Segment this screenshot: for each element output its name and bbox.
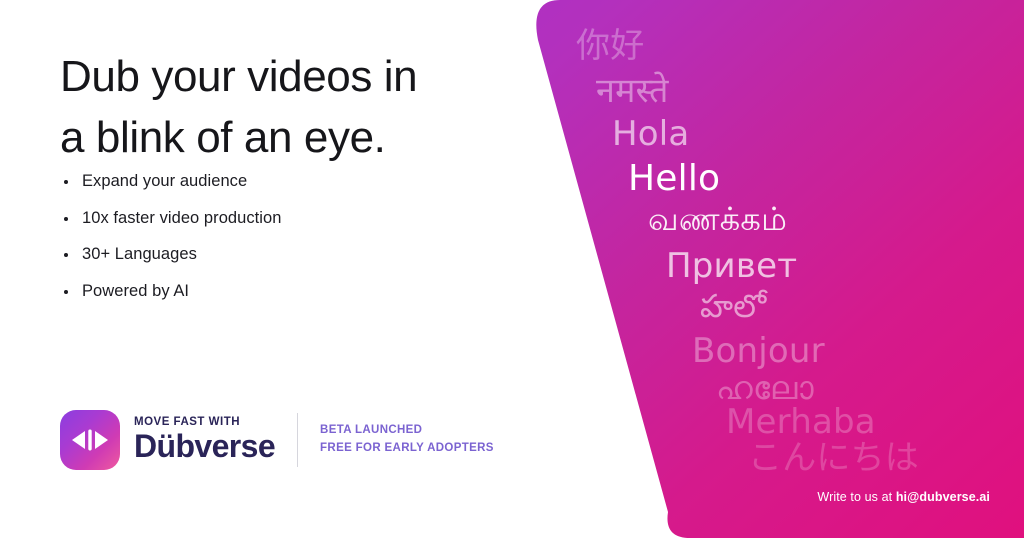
page-title: Dub your videos in a blink of an eye. bbox=[60, 47, 490, 168]
contact-email[interactable]: hi@dubverse.ai bbox=[896, 490, 990, 504]
contact-prefix: Write to us at bbox=[817, 490, 895, 504]
feature-list: Expand your audience 10x faster video pr… bbox=[62, 173, 281, 319]
list-item: 30+ Languages bbox=[62, 246, 281, 263]
brand-kicker: MOVE FAST WITH bbox=[134, 416, 275, 428]
beta-badge: BETA LAUNCHED FREE FOR EARLY ADOPTERS bbox=[320, 422, 494, 458]
list-item: 10x faster video production bbox=[62, 210, 281, 227]
brand-row: MOVE FAST WITH Dübverse BETA LAUNCHED FR… bbox=[60, 410, 494, 470]
brand-name: Dübverse bbox=[134, 430, 275, 464]
beta-line-2: FREE FOR EARLY ADOPTERS bbox=[320, 440, 494, 458]
promo-banner: 你好नमस्तेHolaHelloவணக்கம்ПриветహలోBonjour… bbox=[0, 0, 1024, 538]
beta-line-1: BETA LAUNCHED bbox=[320, 422, 494, 440]
headline-line-1: Dub your videos in bbox=[60, 47, 490, 108]
brand-divider bbox=[297, 413, 298, 467]
dub-play-logo-icon bbox=[60, 410, 120, 470]
contact-line: Write to us at hi@dubverse.ai bbox=[817, 490, 990, 504]
headline-line-2: a blink of an eye. bbox=[60, 108, 490, 169]
list-item: Powered by AI bbox=[62, 283, 281, 300]
list-item: Expand your audience bbox=[62, 173, 281, 190]
brand-text: MOVE FAST WITH Dübverse bbox=[134, 416, 275, 464]
